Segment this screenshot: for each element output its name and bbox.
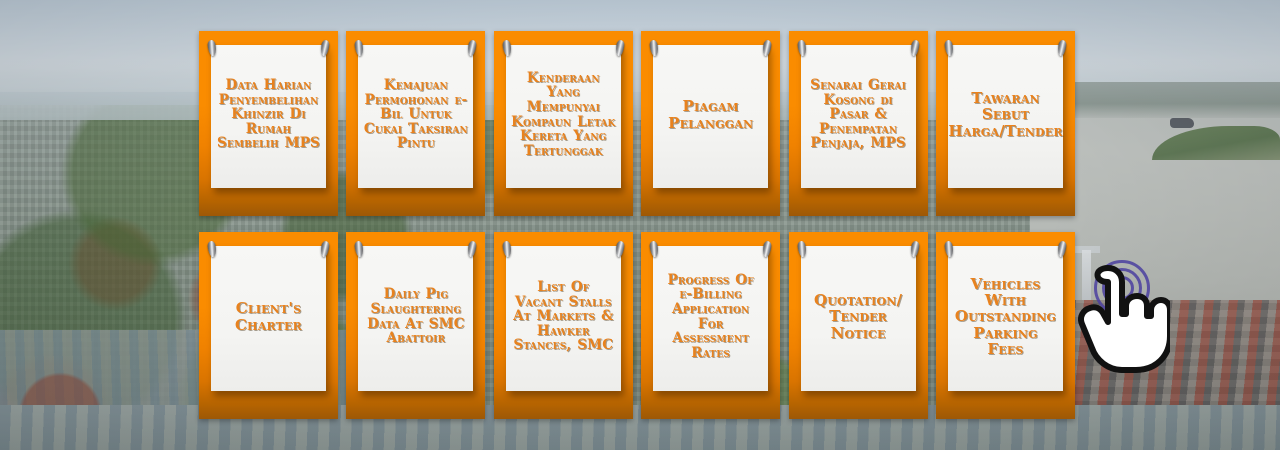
pushpin-left-icon <box>944 40 954 57</box>
tile-label: Client's Charter <box>216 300 321 332</box>
menu-tile-2[interactable]: Kemajuan Permohonan e-Bil Untuk Cukai Ta… <box>346 31 485 216</box>
tile-label: List Of Vacant Stalls At Markets & Hawke… <box>511 280 616 353</box>
menu-tile-11[interactable]: Quotation/ Tender Notice <box>789 232 928 419</box>
tile-card[interactable]: Senarai Gerai Kosong di Pasar & Penempat… <box>801 45 916 188</box>
pushpin-right-icon <box>615 40 625 57</box>
pushpin-right-icon <box>467 241 477 258</box>
tile-label: Progress Of e-Billing Application For As… <box>658 273 763 360</box>
tile-label: Vehicles With Outstanding Parking Fees <box>953 276 1058 357</box>
pushpin-right-icon <box>762 40 772 57</box>
pushpin-right-icon <box>1057 241 1067 258</box>
menu-tile-12[interactable]: Vehicles With Outstanding Parking Fees <box>936 232 1075 419</box>
pushpin-left-icon <box>649 241 659 258</box>
pushpin-left-icon <box>207 40 217 57</box>
tile-card[interactable]: Data Harian Penyembelihan Khinzir Di Rum… <box>211 45 326 188</box>
pushpin-right-icon <box>910 241 920 258</box>
pushpin-left-icon <box>797 241 807 258</box>
menu-tile-4[interactable]: Piagam Pelanggan <box>641 31 780 216</box>
menu-tile-9[interactable]: List Of Vacant Stalls At Markets & Hawke… <box>494 232 633 419</box>
tile-card[interactable]: Kenderaan Yang Mempunyai Kompaun Letak K… <box>506 45 621 188</box>
tile-label: Quotation/ Tender Notice <box>806 292 911 341</box>
tile-card[interactable]: Vehicles With Outstanding Parking Fees <box>948 246 1063 391</box>
pushpin-right-icon <box>1057 40 1067 57</box>
tile-label: Kemajuan Permohonan e-Bil Untuk Cukai Ta… <box>363 78 468 151</box>
pushpin-left-icon <box>502 40 512 57</box>
pushpin-left-icon <box>502 241 512 258</box>
pushpin-left-icon <box>649 40 659 57</box>
tile-label: Kenderaan Yang Mempunyai Kompaun Letak K… <box>511 71 616 158</box>
tile-card[interactable]: Daily Pig Slaughtering Data At SMC Abatt… <box>358 246 473 391</box>
tile-label: Daily Pig Slaughtering Data At SMC Abatt… <box>363 287 468 345</box>
menu-tile-grid: Data Harian Penyembelihan Khinzir Di Rum… <box>199 31 1080 419</box>
tile-card[interactable]: Client's Charter <box>211 246 326 391</box>
tile-label: Tawaran Sebut Harga/Tender <box>948 90 1062 139</box>
pushpin-right-icon <box>320 40 330 57</box>
tile-card[interactable]: Kemajuan Permohonan e-Bil Untuk Cukai Ta… <box>358 45 473 188</box>
pushpin-left-icon <box>797 40 807 57</box>
pushpin-right-icon <box>467 40 477 57</box>
tile-label: Piagam Pelanggan <box>658 98 763 130</box>
tile-label: Senarai Gerai Kosong di Pasar & Penempat… <box>806 78 911 151</box>
menu-tile-1[interactable]: Data Harian Penyembelihan Khinzir Di Rum… <box>199 31 338 216</box>
pushpin-right-icon <box>762 241 772 258</box>
tile-card[interactable]: Progress Of e-Billing Application For As… <box>653 246 768 391</box>
tile-card[interactable]: Tawaran Sebut Harga/Tender <box>948 45 1063 188</box>
menu-tile-7[interactable]: Client's Charter <box>199 232 338 419</box>
tile-label: Data Harian Penyembelihan Khinzir Di Rum… <box>216 78 321 151</box>
tile-card[interactable]: Piagam Pelanggan <box>653 45 768 188</box>
pushpin-right-icon <box>320 241 330 258</box>
pushpin-left-icon <box>354 241 364 258</box>
pushpin-right-icon <box>615 241 625 258</box>
tile-card[interactable]: Quotation/ Tender Notice <box>801 246 916 391</box>
menu-tile-10[interactable]: Progress Of e-Billing Application For As… <box>641 232 780 419</box>
kiosk-screen: Data Harian Penyembelihan Khinzir Di Rum… <box>0 0 1280 450</box>
pushpin-left-icon <box>354 40 364 57</box>
tile-card[interactable]: List Of Vacant Stalls At Markets & Hawke… <box>506 246 621 391</box>
pushpin-left-icon <box>207 241 217 258</box>
menu-tile-8[interactable]: Daily Pig Slaughtering Data At SMC Abatt… <box>346 232 485 419</box>
menu-tile-5[interactable]: Senarai Gerai Kosong di Pasar & Penempat… <box>789 31 928 216</box>
pushpin-right-icon <box>910 40 920 57</box>
menu-tile-3[interactable]: Kenderaan Yang Mempunyai Kompaun Letak K… <box>494 31 633 216</box>
pushpin-left-icon <box>944 241 954 258</box>
menu-tile-6[interactable]: Tawaran Sebut Harga/Tender <box>936 31 1075 216</box>
